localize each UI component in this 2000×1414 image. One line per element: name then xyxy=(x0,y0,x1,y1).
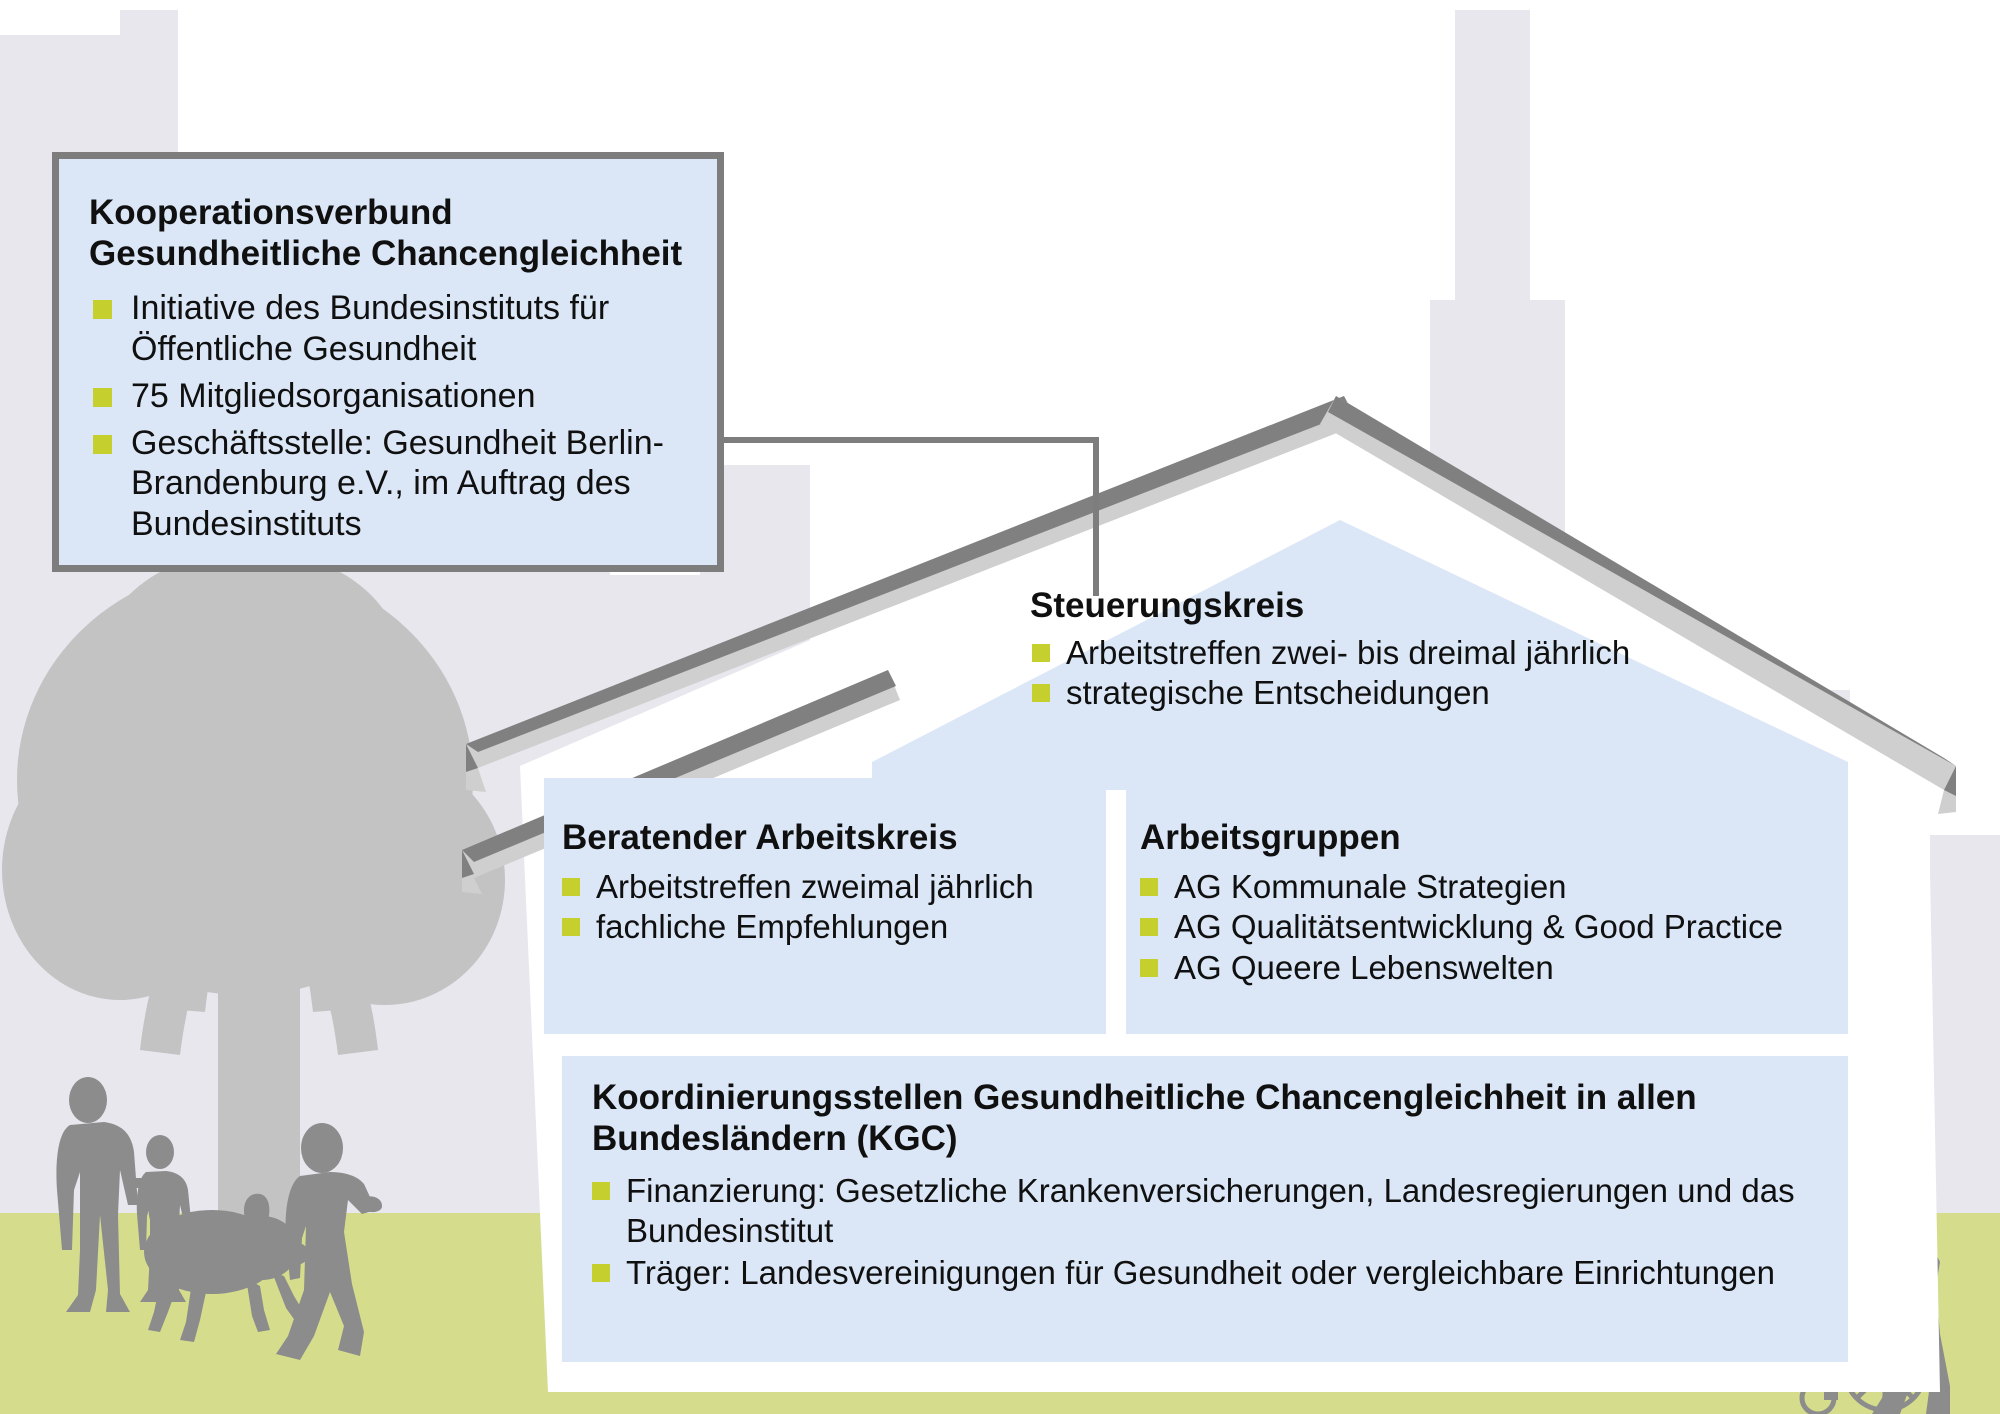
bullet-square-icon xyxy=(1140,918,1158,936)
steuerungskreis-title: Steuerungskreis xyxy=(1030,586,1850,627)
arbeitsgruppen-text: Arbeitsgruppen AG Kommunale Strategien A… xyxy=(1140,818,1860,988)
list-item-text: Arbeitstreffen zweimal jährlich xyxy=(596,868,1034,905)
bullet-square-icon xyxy=(93,300,112,319)
bullet-square-icon xyxy=(562,918,580,936)
callout-list: Initiative des Bundesinstituts für Öffen… xyxy=(89,288,691,545)
bullet-square-icon xyxy=(562,878,580,896)
list-item-text: AG Kommunale Strategien xyxy=(1174,868,1567,905)
beratender-arbeitskreis-text: Beratender Arbeitskreis Arbeitstreffen z… xyxy=(562,818,1122,948)
kgc-title-line1: Koordinierungsstellen Gesundheitliche Ch… xyxy=(592,1078,1697,1117)
list-item-text: 75 Mitgliedsorganisationen xyxy=(131,377,535,415)
list-item-text: Arbeitstreffen zwei- bis dreimal jährlic… xyxy=(1066,634,1630,671)
callout-title-line2: Gesundheitliche Chancengleichheit xyxy=(89,234,682,273)
list-item: Arbeitstreffen zwei- bis dreimal jährlic… xyxy=(1030,633,1850,673)
list-item: Initiative des Bundesinstituts für Öffen… xyxy=(89,288,691,370)
bullet-square-icon xyxy=(93,435,112,454)
list-item: Geschäftsstelle: Gesundheit Berlin-Brand… xyxy=(89,423,691,545)
kgc-title-line2: Bundesländern (KGC) xyxy=(592,1119,958,1158)
arbeitsgruppen-list: AG Kommunale Strategien AG Qualitätsentw… xyxy=(1140,867,1860,988)
list-item: Träger: Landesvereinigungen für Gesundhe… xyxy=(592,1253,1862,1293)
list-item-text: Initiative des Bundesinstituts für Öffen… xyxy=(131,289,609,368)
bullet-square-icon xyxy=(1140,959,1158,977)
callout-title: Kooperationsverbund Gesundheitliche Chan… xyxy=(89,193,691,274)
bullet-square-icon xyxy=(1140,878,1158,896)
list-item: Finanzierung: Gesetzliche Krankenversich… xyxy=(592,1171,1862,1250)
bullet-square-icon xyxy=(592,1264,610,1282)
infographic-canvas: Kooperationsverbund Gesundheitliche Chan… xyxy=(0,0,2000,1414)
bullet-square-icon xyxy=(93,388,112,407)
kooperationsverbund-callout: Kooperationsverbund Gesundheitliche Chan… xyxy=(52,152,724,572)
kgc-title: Koordinierungsstellen Gesundheitliche Ch… xyxy=(592,1078,1862,1159)
list-item: AG Queere Lebenswelten xyxy=(1140,948,1860,988)
list-item: 75 Mitgliedsorganisationen xyxy=(89,376,691,417)
list-item: fachliche Empfehlungen xyxy=(562,907,1122,947)
list-item-text: fachliche Empfehlungen xyxy=(596,908,948,945)
kgc-text: Koordinierungsstellen Gesundheitliche Ch… xyxy=(592,1078,1862,1296)
steuerungskreis-list: Arbeitstreffen zwei- bis dreimal jährlic… xyxy=(1030,633,1850,713)
steuerungskreis-text: Steuerungskreis Arbeitstreffen zwei- bis… xyxy=(1030,586,1850,714)
bullet-square-icon xyxy=(592,1182,610,1200)
callout-title-line1: Kooperationsverbund xyxy=(89,193,453,232)
list-item-text: AG Qualitätsentwicklung & Good Practice xyxy=(1174,908,1783,945)
list-item-text: strategische Entscheidungen xyxy=(1066,674,1490,711)
list-item: strategische Entscheidungen xyxy=(1030,673,1850,713)
bullet-square-icon xyxy=(1032,644,1050,662)
bullet-square-icon xyxy=(1032,684,1050,702)
list-item-text: Geschäftsstelle: Gesundheit Berlin-Brand… xyxy=(131,424,664,544)
beratender-arbeitskreis-list: Arbeitstreffen zweimal jährlich fachlich… xyxy=(562,867,1122,947)
arbeitsgruppen-title: Arbeitsgruppen xyxy=(1140,818,1860,859)
list-item-text: Finanzierung: Gesetzliche Krankenversich… xyxy=(626,1172,1795,1249)
list-item-text: Träger: Landesvereinigungen für Gesundhe… xyxy=(626,1254,1775,1291)
list-item: AG Qualitätsentwicklung & Good Practice xyxy=(1140,907,1860,947)
kgc-list: Finanzierung: Gesetzliche Krankenversich… xyxy=(592,1171,1862,1293)
list-item: AG Kommunale Strategien xyxy=(1140,867,1860,907)
beratender-arbeitskreis-title: Beratender Arbeitskreis xyxy=(562,818,1122,859)
list-item: Arbeitstreffen zweimal jährlich xyxy=(562,867,1122,907)
list-item-text: AG Queere Lebenswelten xyxy=(1174,949,1554,986)
